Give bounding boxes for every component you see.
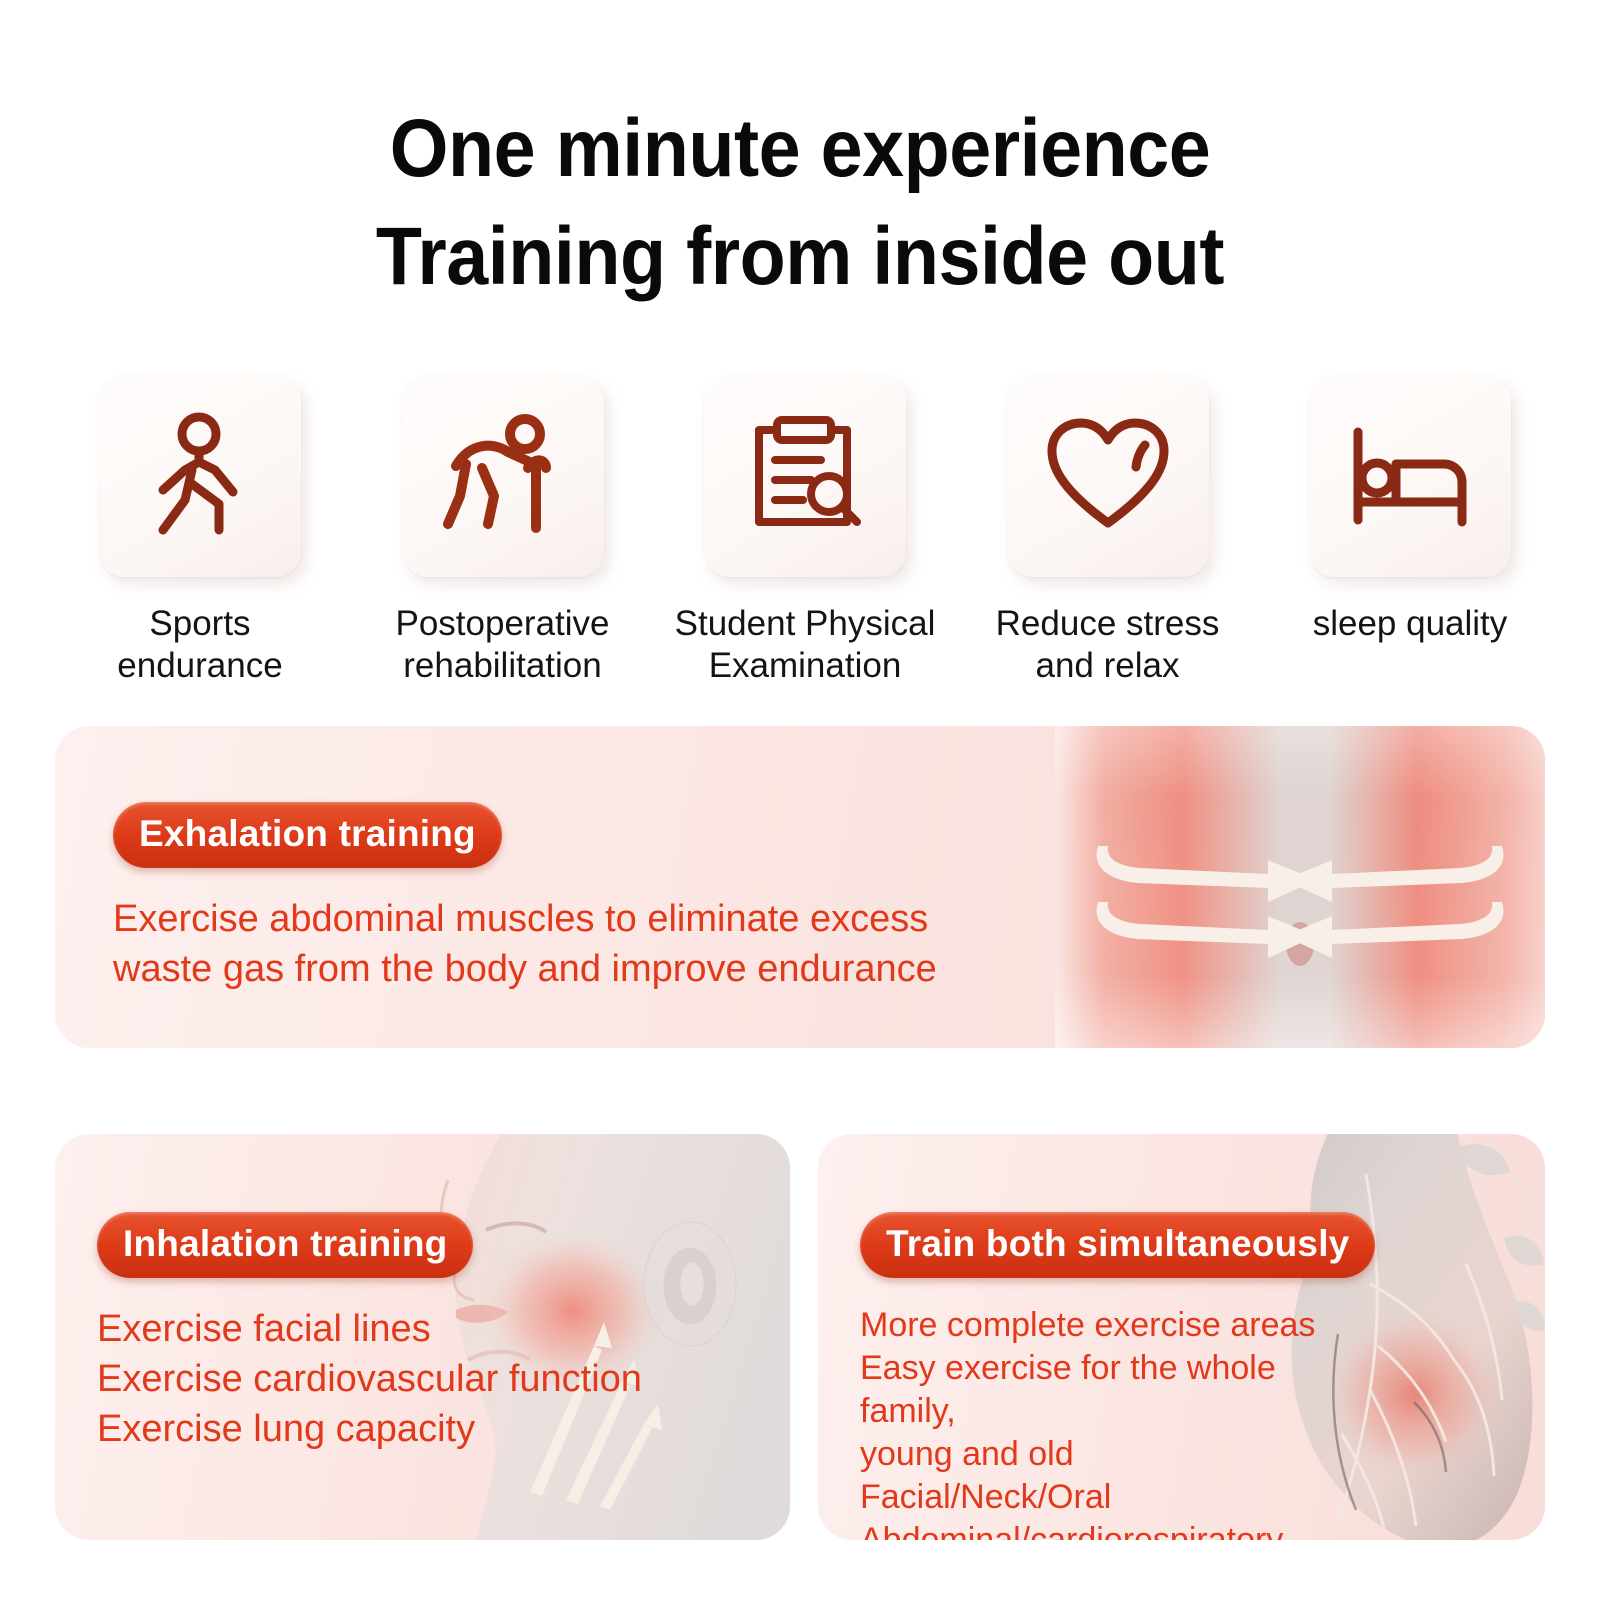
badge-inhalation-training: Inhalation training xyxy=(97,1212,473,1278)
card-exhalation-text: Exercise abdominal muscles to eliminate … xyxy=(113,894,1013,994)
benefit-label: sleep quality xyxy=(1313,603,1508,645)
card-train-both-text: More complete exercise areas Easy exerci… xyxy=(860,1304,1380,1540)
benefit-label: Sports endurance xyxy=(117,603,282,687)
benefit-icon-tile xyxy=(704,375,906,577)
benefits-row: Sports endurance Postoperative rehabilit… xyxy=(60,375,1550,695)
benefit-item-postoperative-rehabilitation[interactable]: Postoperative rehabilitation xyxy=(363,375,643,695)
benefit-icon-tile xyxy=(1309,375,1511,577)
page-title-line-2: Training from inside out xyxy=(64,203,1536,311)
benefit-icon-tile xyxy=(402,375,604,577)
card-exhalation-body: Exhalation training Exercise abdominal m… xyxy=(113,802,1013,994)
walking-person-icon xyxy=(141,412,259,540)
page-title: One minute experience Training from insi… xyxy=(0,95,1600,311)
clipboard-magnifier-icon xyxy=(745,414,865,538)
card-inhalation-body: Inhalation training Exercise facial line… xyxy=(97,1212,697,1454)
badge-train-both-simultaneously: Train both simultaneously xyxy=(860,1212,1375,1278)
benefit-icon-tile xyxy=(1007,375,1209,577)
card-inhalation-text: Exercise facial lines Exercise cardiovas… xyxy=(97,1304,697,1454)
benefit-label: Student Physical Examination xyxy=(675,603,936,687)
benefit-item-student-physical-examination[interactable]: Student Physical Examination xyxy=(665,375,945,695)
card-train-both-simultaneously[interactable]: Train both simultaneously More complete … xyxy=(818,1134,1545,1540)
card-train-both-body: Train both simultaneously More complete … xyxy=(860,1212,1380,1540)
abdomen-photo-with-inward-arrows xyxy=(1000,726,1545,1048)
benefit-label: Reduce stress and relax xyxy=(996,603,1220,687)
benefit-item-reduce-stress[interactable]: Reduce stress and relax xyxy=(968,375,1248,695)
elderly-person-with-cane-icon xyxy=(442,412,564,540)
card-inhalation-training[interactable]: Inhalation training Exercise facial line… xyxy=(55,1134,790,1540)
benefit-item-sleep-quality[interactable]: sleep quality xyxy=(1270,375,1550,695)
card-exhalation-training[interactable]: Exhalation training Exercise abdominal m… xyxy=(55,726,1545,1048)
page-title-line-1: One minute experience xyxy=(64,95,1536,203)
benefit-label: Postoperative rehabilitation xyxy=(395,603,609,687)
heart-icon xyxy=(1044,417,1172,535)
benefit-item-sports-endurance[interactable]: Sports endurance xyxy=(60,375,340,695)
bed-icon xyxy=(1348,420,1472,532)
benefit-icon-tile xyxy=(99,375,301,577)
badge-exhalation-training: Exhalation training xyxy=(113,802,502,868)
